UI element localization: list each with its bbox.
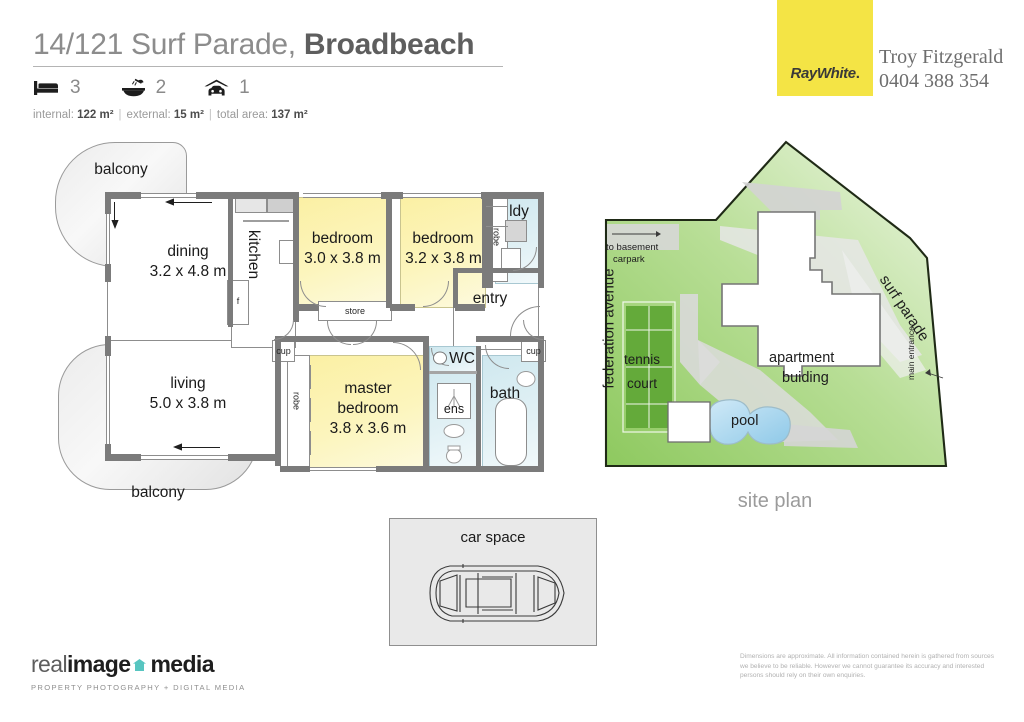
robe-master-shape bbox=[287, 355, 310, 470]
total-value: 137 m² bbox=[271, 109, 307, 121]
car-drawing-icon bbox=[416, 555, 572, 631]
master-label-1: master bbox=[313, 380, 423, 398]
logo-word-media: media bbox=[150, 651, 213, 677]
master-dims: 3.8 x 3.6 m bbox=[309, 420, 427, 438]
master-label-2: bedroom bbox=[313, 400, 423, 418]
bedroom-3-label: bedroom bbox=[400, 230, 486, 248]
bathtub-shape bbox=[495, 398, 527, 466]
wall-top-bed2 bbox=[381, 192, 403, 199]
car-space-label: car space bbox=[390, 529, 596, 546]
wall-right-entry bbox=[538, 338, 544, 470]
car-space-panel: car space bbox=[389, 518, 597, 646]
car-count: 1 bbox=[239, 77, 250, 99]
wall-entry-left bbox=[453, 268, 458, 308]
robe-master-label: robe bbox=[291, 392, 301, 410]
floor-plan: balcony dining 3.2 x 4.8 m kitchen bedro… bbox=[55, 140, 555, 520]
internal-value: 122 m² bbox=[77, 109, 113, 121]
wall-ldy-bottom bbox=[453, 268, 543, 273]
balcony-bottom-label: balcony bbox=[105, 484, 211, 502]
kitchen-bench bbox=[243, 220, 289, 222]
wall-left-dining bbox=[105, 192, 111, 214]
arrow-balcony-top bbox=[170, 202, 212, 203]
logo-tagline: PROPERTY PHOTOGRAPHY + DIGITAL MEDIA bbox=[31, 683, 261, 692]
apartment-building-label-1: apartment bbox=[769, 350, 834, 366]
total-label: total area: bbox=[217, 109, 271, 121]
wall-bottom-master-2 bbox=[376, 466, 428, 472]
ensuite-label: ens bbox=[431, 402, 477, 417]
robe-leaf-1 bbox=[310, 365, 311, 389]
area-sep-2: | bbox=[204, 109, 217, 121]
raywhite-logo-text: RayWhite. bbox=[777, 65, 873, 82]
robe-bed3-label: robe bbox=[491, 228, 501, 246]
dining-dims: 3.2 x 4.8 m bbox=[123, 263, 253, 281]
washer-icon bbox=[505, 220, 527, 242]
wall-left-mid bbox=[105, 264, 111, 282]
car-group: 1 bbox=[202, 77, 250, 99]
arrow-balcony-bottom bbox=[178, 447, 220, 448]
address-suburb: Broadbeach bbox=[304, 28, 474, 61]
balcony-top-label: balcony bbox=[71, 161, 171, 179]
logo-word-image: image bbox=[67, 651, 130, 677]
toilet-icon bbox=[443, 445, 465, 465]
store-label: store bbox=[318, 306, 392, 316]
vanity-basin-icon bbox=[442, 422, 466, 440]
logo-dot: . bbox=[856, 65, 860, 82]
wall-top-kitchen bbox=[246, 192, 298, 199]
kitchen-label: kitchen bbox=[244, 230, 262, 279]
door-master-arc bbox=[393, 342, 421, 370]
wall-store-right bbox=[390, 304, 415, 311]
internal-label: internal: bbox=[33, 109, 77, 121]
arrow-head-left bbox=[110, 220, 120, 230]
wall-bottom-bath bbox=[480, 466, 544, 472]
car-icon bbox=[202, 77, 232, 99]
living-dims: 5.0 x 3.8 m bbox=[133, 395, 243, 413]
fridge-label: f bbox=[227, 296, 249, 306]
window-master-bottom bbox=[310, 467, 376, 471]
bedroom-3-dims: 3.2 x 3.8 m bbox=[396, 250, 491, 268]
tennis-court-label-1: tennis bbox=[624, 352, 660, 367]
bed-icon bbox=[33, 77, 63, 99]
agent-contact: Troy Fitzgerald 0404 388 354 bbox=[879, 46, 1024, 93]
laundry-label: ldy bbox=[497, 203, 541, 221]
logo-white: White bbox=[817, 65, 856, 82]
apartment-building-label-2: buiding bbox=[782, 370, 829, 386]
window-living-left bbox=[106, 356, 110, 444]
basement-carpark-label-2: carpark bbox=[613, 254, 645, 265]
agent-name: Troy Fitzgerald bbox=[879, 46, 1024, 69]
wc-label: WC bbox=[445, 350, 479, 368]
wall-master-top bbox=[275, 336, 427, 342]
address-street: 14/121 Surf Parade, bbox=[33, 28, 304, 61]
tennis-court-label-2: court bbox=[627, 376, 657, 391]
house-icon bbox=[133, 650, 146, 662]
realimagemedia-wordmark: realimagemedia bbox=[31, 650, 261, 678]
wall-bottom-living-2 bbox=[228, 454, 280, 461]
wall-bottom-master bbox=[280, 466, 310, 472]
area-sep-1: | bbox=[114, 109, 127, 121]
bedroom-2-dims: 3.0 x 3.8 m bbox=[295, 250, 390, 268]
window-bed2-top bbox=[303, 193, 381, 198]
cup-right-label: cup bbox=[521, 346, 546, 356]
bath-icon bbox=[119, 77, 149, 99]
wall-master-ens bbox=[423, 336, 429, 470]
wall-bed-bottom-1 bbox=[293, 304, 319, 311]
agent-phone: 0404 388 354 bbox=[879, 69, 1024, 93]
bed-count: 3 bbox=[70, 77, 81, 99]
living-label: living bbox=[143, 375, 233, 393]
floorplan-page: 14/121 Surf Parade, Broadbeach 3 bbox=[0, 0, 1024, 722]
arrow-head-bottom bbox=[173, 442, 183, 452]
arrow-head-top bbox=[165, 197, 175, 207]
bedroom-2-label: bedroom bbox=[298, 230, 387, 248]
wall-wc-bottom bbox=[429, 371, 477, 374]
realimagemedia-logo: realimagemedia PROPERTY PHOTOGRAPHY + DI… bbox=[31, 650, 261, 692]
window-bed3-top bbox=[403, 193, 481, 198]
bath-count: 2 bbox=[156, 77, 167, 99]
bed-group: 3 bbox=[33, 77, 81, 99]
disclaimer-text: Dimensions are approximate. All informat… bbox=[740, 652, 1002, 681]
listing-header: 14/121 Surf Parade, Broadbeach 3 bbox=[33, 28, 503, 121]
federation-avenue-label: federation avenue bbox=[601, 244, 618, 414]
door-living-balcony bbox=[141, 455, 228, 460]
raywhite-logo-block: RayWhite. bbox=[777, 0, 873, 96]
external-value: 15 m² bbox=[174, 109, 204, 121]
logo-word-real: real bbox=[31, 651, 67, 677]
wall-bottom-ens bbox=[428, 466, 480, 472]
main-entrance-label: main entrance bbox=[906, 326, 916, 380]
sink-icon bbox=[235, 197, 267, 213]
site-plan: to basement carpark tennis court pool ap… bbox=[570, 130, 990, 530]
bath-group: 2 bbox=[119, 77, 167, 99]
wall-left-living-top bbox=[105, 336, 111, 356]
entry-label: entry bbox=[459, 290, 521, 308]
site-plan-caption: site plan bbox=[700, 490, 850, 513]
robe-leaf-2 bbox=[310, 398, 311, 422]
cup-left-label: cup bbox=[272, 346, 295, 356]
wall-bottom-living bbox=[105, 454, 141, 461]
wall-top-dining-2 bbox=[196, 192, 246, 199]
bath-label: bath bbox=[481, 385, 529, 403]
page-title: 14/121 Surf Parade, Broadbeach bbox=[33, 28, 503, 67]
external-label: external: bbox=[127, 109, 174, 121]
logo-ray: Ray bbox=[791, 65, 817, 82]
pool-label: pool bbox=[731, 413, 758, 429]
robe-leaf-5 bbox=[486, 226, 508, 227]
area-summary: internal: 122 m²|external: 15 m²|total a… bbox=[33, 109, 503, 121]
dining-label: dining bbox=[133, 243, 243, 261]
property-feature-row: 3 2 bbox=[33, 76, 503, 100]
